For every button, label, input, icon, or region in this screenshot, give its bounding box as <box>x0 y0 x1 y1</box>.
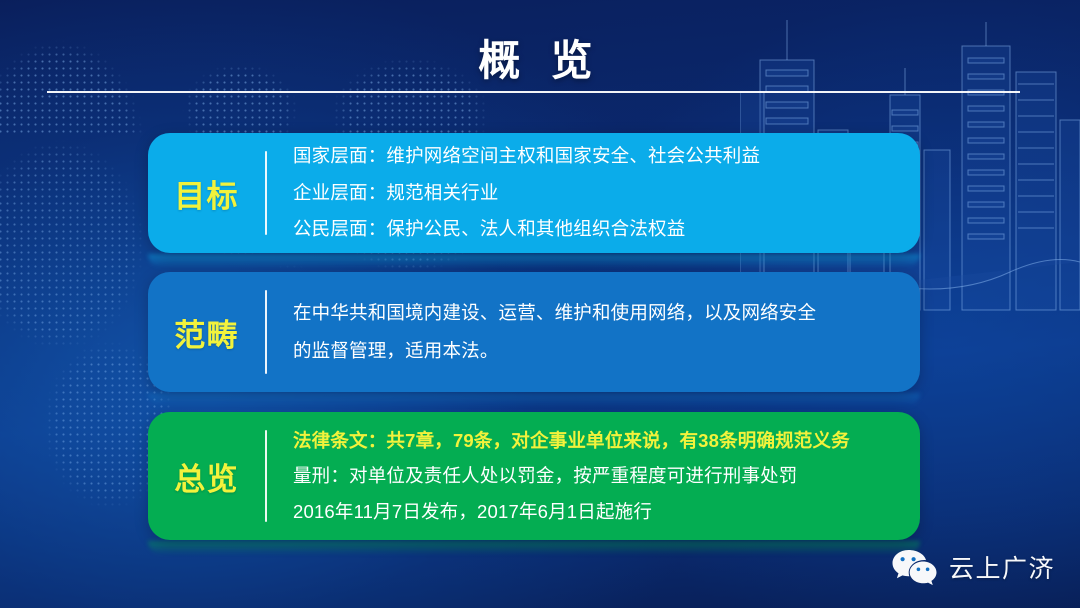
wechat-icon <box>891 548 937 586</box>
title-underline <box>47 91 1020 93</box>
card-summary-body: 法律条文：共7章，79条，对企事业单位来说，有38条明确规范义务 量刑：对单位及… <box>267 423 920 530</box>
card-scope-label: 范畴 <box>148 310 265 355</box>
card-goal-line-3: 公民层面：保护公民、法人和其他组织合法权益 <box>293 211 902 248</box>
card-summary-line-1: 法律条文：共7章，79条，对企事业单位来说，有38条明确规范义务 <box>293 423 902 459</box>
slide-canvas: 概 览 目标 国家层面：维护网络空间主权和国家安全、社会公共利益 企业层面：规范… <box>0 0 1080 608</box>
card-summary-line-3: 2016年11月7日发布，2017年6月1日起施行 <box>293 494 902 530</box>
card-reflection <box>148 393 920 407</box>
card-goal-line-2: 企业层面：规范相关行业 <box>293 175 902 212</box>
watermark-text: 云上广济 <box>949 549 1055 585</box>
card-scope-line-1: 在中华共和国境内建设、运营、维护和使用网络，以及网络安全 <box>293 294 902 332</box>
card-goal-label: 目标 <box>148 171 265 216</box>
watermark: 云上广济 <box>891 548 1055 586</box>
page-title: 概 览 <box>0 27 1080 88</box>
card-summary-line-2: 量刑：对单位及责任人处以罚金，按严重程度可进行刑事处罚 <box>293 458 902 494</box>
card-goal-body: 国家层面：维护网络空间主权和国家安全、社会公共利益 企业层面：规范相关行业 公民… <box>267 138 920 248</box>
card-scope[interactable]: 范畴 在中华共和国境内建设、运营、维护和使用网络，以及网络安全 的监督管理，适用… <box>148 272 920 392</box>
card-summary-label: 总览 <box>148 454 265 499</box>
card-reflection <box>148 541 920 555</box>
card-summary[interactable]: 总览 法律条文：共7章，79条，对企事业单位来说，有38条明确规范义务 量刑：对… <box>148 412 920 540</box>
card-reflection <box>148 254 920 268</box>
card-goal-line-1: 国家层面：维护网络空间主权和国家安全、社会公共利益 <box>293 138 902 175</box>
card-goal[interactable]: 目标 国家层面：维护网络空间主权和国家安全、社会公共利益 企业层面：规范相关行业… <box>148 133 920 253</box>
card-scope-body: 在中华共和国境内建设、运营、维护和使用网络，以及网络安全 的监督管理，适用本法。 <box>267 294 920 370</box>
card-scope-line-2: 的监督管理，适用本法。 <box>293 332 902 370</box>
